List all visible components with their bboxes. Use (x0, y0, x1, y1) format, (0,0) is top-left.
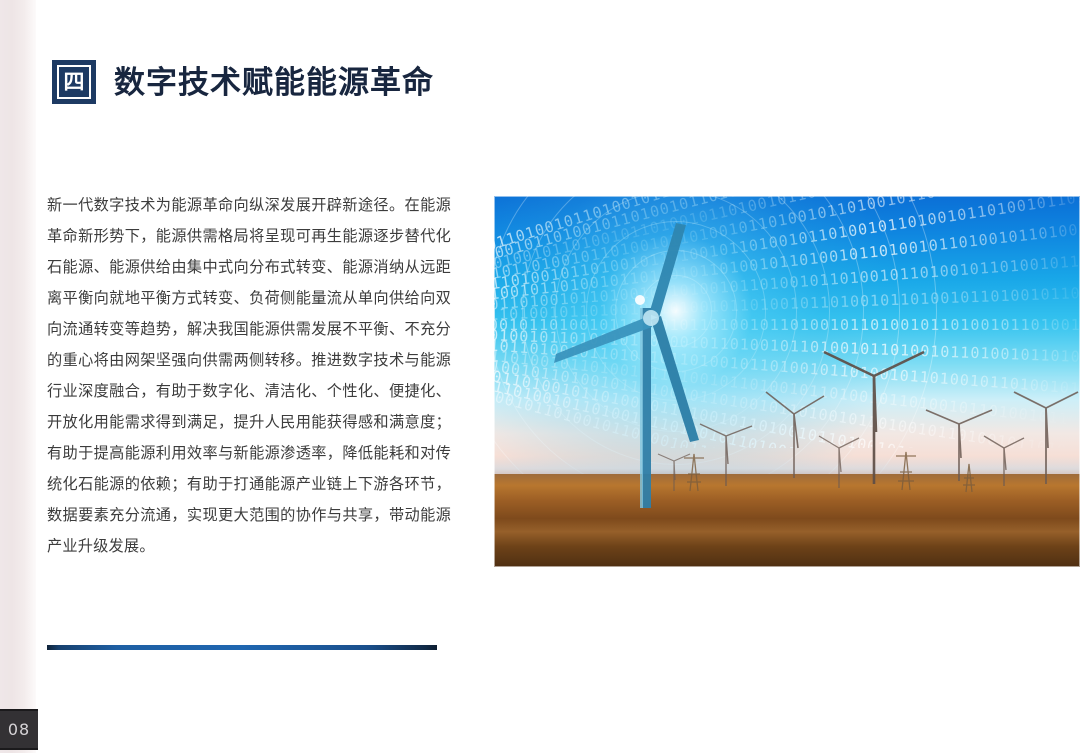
page-title: 数字技术赋能能源革命 (114, 67, 434, 98)
section-number-inner-frame: 四 (57, 65, 91, 99)
section-heading: 四 数字技术赋能能源革命 (52, 46, 434, 119)
section-number-badge: 四 (52, 60, 96, 104)
page-binding-shadow (0, 0, 40, 753)
page-number-text: 08 (8, 720, 30, 739)
body-paragraph: 新一代数字技术为能源革命向纵深发展开辟新途径。在能源革命新形势下，能源供需格局将… (47, 190, 451, 562)
photo-turbines (494, 196, 1080, 567)
illustration-wind-farm: 0101101001011010010110100101101001011010… (494, 196, 1080, 567)
page-number-badge: 08 (0, 709, 38, 750)
section-number-text: 四 (64, 72, 85, 93)
section-divider-rule (47, 645, 437, 650)
document-page: 四 数字技术赋能能源革命 新一代数字技术为能源革命向纵深发展开辟新途径。在能源革… (0, 0, 1080, 753)
